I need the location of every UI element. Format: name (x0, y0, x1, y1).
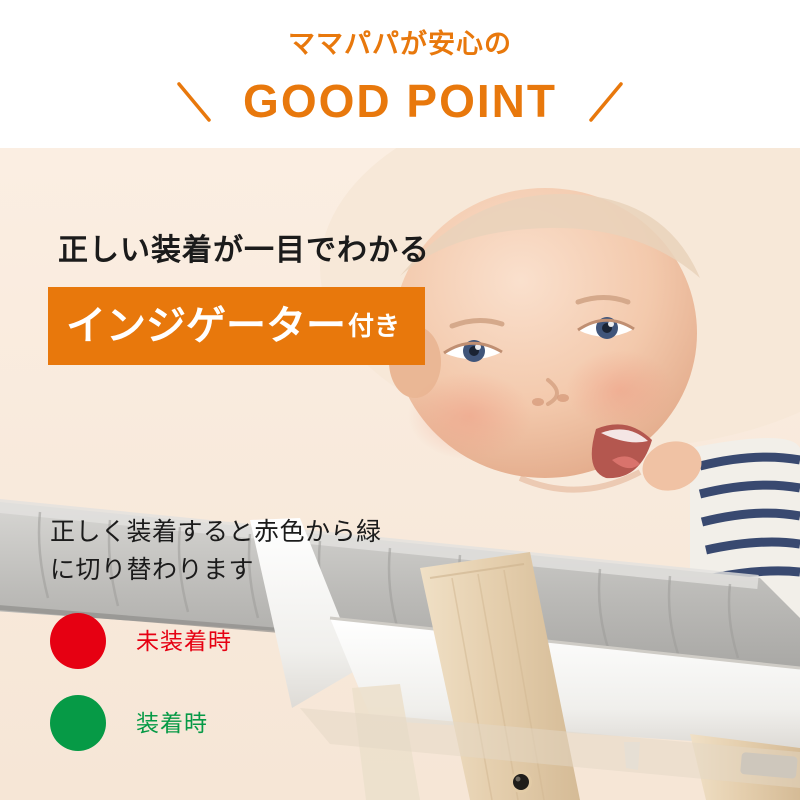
header-subtitle: ママパパが安心の (0, 30, 800, 60)
legend-item-attached: 装着時 (50, 690, 232, 756)
banner-sub-text: 付き (348, 313, 400, 339)
legend-label-attached: 装着時 (136, 712, 208, 735)
legend-dot-green (50, 695, 106, 751)
description-line-2: に切り替わります (50, 552, 410, 590)
page-headline: 正しい装着が一目でわかる (58, 233, 430, 269)
legend-dot-red (50, 613, 106, 669)
legend-item-unattached: 未装着時 (50, 608, 232, 674)
page-title: GOOD POINT (243, 78, 557, 124)
promo-page: ママパパが安心の GOOD POINT (0, 0, 800, 800)
description-line-1: 正しく装着すると赤色から緑 (50, 514, 410, 552)
indicator-legend: 未装着時 装着時 (50, 608, 232, 772)
description-text: 正しく装着すると赤色から緑 に切り替わります (50, 514, 410, 589)
header-title-row: GOOD POINT (0, 72, 800, 130)
indicator-banner: インジゲーター 付き (48, 287, 425, 365)
slash-right-icon (583, 76, 627, 126)
legend-label-unattached: 未装着時 (136, 630, 232, 653)
slash-left-icon (173, 76, 217, 126)
indicator-highlight-group (608, 770, 704, 800)
header-band: ママパパが安心の GOOD POINT (0, 0, 800, 148)
banner-main-text: インジゲーター (66, 306, 346, 346)
